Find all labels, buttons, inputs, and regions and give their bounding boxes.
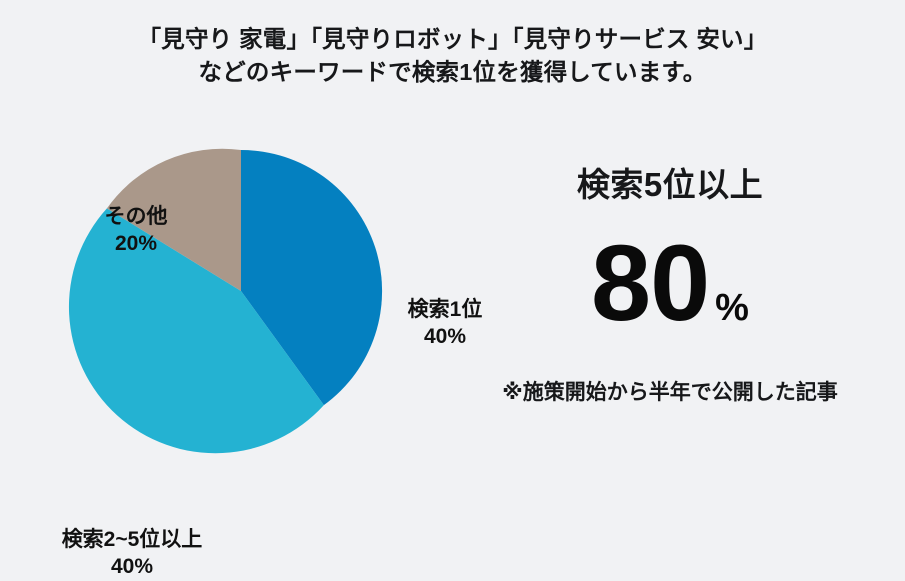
stat-panel: 検索5位以上 80% ※施策開始から半年で公開した記事 [470, 96, 905, 504]
pie-label-kensaku-2-5i-name: 検索2~5位以上 [22, 527, 242, 554]
title-line-2: などのキーワードで検索1位を獲得しています。 [0, 56, 905, 89]
stat-footnote: ※施策開始から半年で公開した記事 [470, 376, 870, 406]
stat-heading: 検索5位以上 [470, 158, 870, 206]
infographic-root: 「見守り 家電」「見守りロボット」「見守りサービス 安い」 などのキーワードで検… [0, 0, 905, 504]
pie-chart: その他 20% 検索1位 40% 検索2~5位以上 40% [0, 96, 470, 504]
page-title: 「見守り 家電」「見守りロボット」「見守りサービス 安い」 などのキーワードで検… [0, 23, 905, 90]
title-line-1: 「見守り 家電」「見守りロボット」「見守りサービス 安い」 [0, 23, 905, 56]
pie-label-sonota: その他 20% [56, 204, 216, 258]
pie-label-kensaku-2-5i: 検索2~5位以上 40% [22, 527, 242, 581]
pie-label-kensaku-2-5i-value: 40% [22, 554, 242, 581]
pie-label-sonota-value: 20% [56, 231, 216, 258]
stat-unit: % [715, 287, 749, 329]
stat-number: 80 [591, 222, 709, 343]
pie-label-sonota-name: その他 [56, 204, 216, 231]
stat-figure: 80% [470, 229, 870, 337]
